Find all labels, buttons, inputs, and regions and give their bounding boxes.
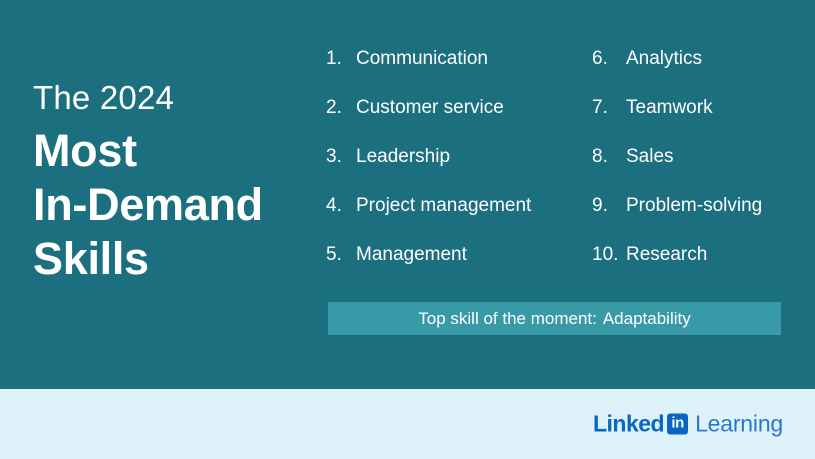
skill-number: 9. xyxy=(592,195,626,217)
headline-main: Most In-Demand Skills xyxy=(33,124,303,286)
headline-line-1: Most xyxy=(33,124,303,178)
list-item: 7. Teamwork xyxy=(592,97,786,146)
main-panel: The 2024 Most In-Demand Skills 1. Commun… xyxy=(0,0,815,389)
linkedin-learning-logo: Linked in Learning xyxy=(593,411,783,438)
top-skill-text: Top skill of the moment:Adaptability xyxy=(418,309,690,329)
top-skill-prefix: Top skill of the moment: xyxy=(418,309,597,328)
skill-label: Management xyxy=(356,244,467,266)
skill-label: Sales xyxy=(626,146,674,168)
skill-label: Project management xyxy=(356,195,531,217)
skills-column-right: 6. Analytics 7. Teamwork 8. Sales 9. Pro… xyxy=(592,48,786,293)
list-item: 8. Sales xyxy=(592,146,786,195)
infographic-canvas: The 2024 Most In-Demand Skills 1. Commun… xyxy=(0,0,815,459)
skills-column-left: 1. Communication 2. Customer service 3. … xyxy=(326,48,592,293)
skill-number: 8. xyxy=(592,146,626,168)
top-skill-value: Adaptability xyxy=(603,309,691,328)
skill-label: Analytics xyxy=(626,48,702,70)
skill-number: 5. xyxy=(326,244,356,266)
skill-number: 6. xyxy=(592,48,626,70)
skill-label: Research xyxy=(626,244,707,266)
skills-list: 1. Communication 2. Customer service 3. … xyxy=(326,48,786,293)
skill-label: Leadership xyxy=(356,146,450,168)
list-item: 9. Problem-solving xyxy=(592,195,786,244)
headline-block: The 2024 Most In-Demand Skills xyxy=(33,78,303,286)
list-item: 6. Analytics xyxy=(592,48,786,97)
headline-line-2: In-Demand xyxy=(33,178,303,232)
skill-label: Problem-solving xyxy=(626,195,762,217)
skill-number: 7. xyxy=(592,97,626,119)
skill-number: 3. xyxy=(326,146,356,168)
top-skill-banner: Top skill of the moment:Adaptability xyxy=(328,302,781,335)
list-item: 2. Customer service xyxy=(326,97,592,146)
brand-wordmark: Linked xyxy=(593,411,664,438)
headline-line-3: Skills xyxy=(33,232,303,286)
headline-eyebrow: The 2024 xyxy=(33,78,303,118)
footer-bar: Linked in Learning xyxy=(0,389,815,459)
list-item: 4. Project management xyxy=(326,195,592,244)
skill-label: Teamwork xyxy=(626,97,713,119)
list-item: 10. Research xyxy=(592,244,786,293)
list-item: 5. Management xyxy=(326,244,592,293)
linkedin-in-badge-icon: in xyxy=(667,414,688,435)
list-item: 3. Leadership xyxy=(326,146,592,195)
skill-number: 4. xyxy=(326,195,356,217)
list-item: 1. Communication xyxy=(326,48,592,97)
skill-number: 10. xyxy=(592,244,626,266)
skill-label: Customer service xyxy=(356,97,504,119)
skill-number: 2. xyxy=(326,97,356,119)
brand-badge-label: in xyxy=(671,416,683,431)
brand-suffix: Learning xyxy=(695,411,783,438)
skill-number: 1. xyxy=(326,48,356,70)
skill-label: Communication xyxy=(356,48,488,70)
